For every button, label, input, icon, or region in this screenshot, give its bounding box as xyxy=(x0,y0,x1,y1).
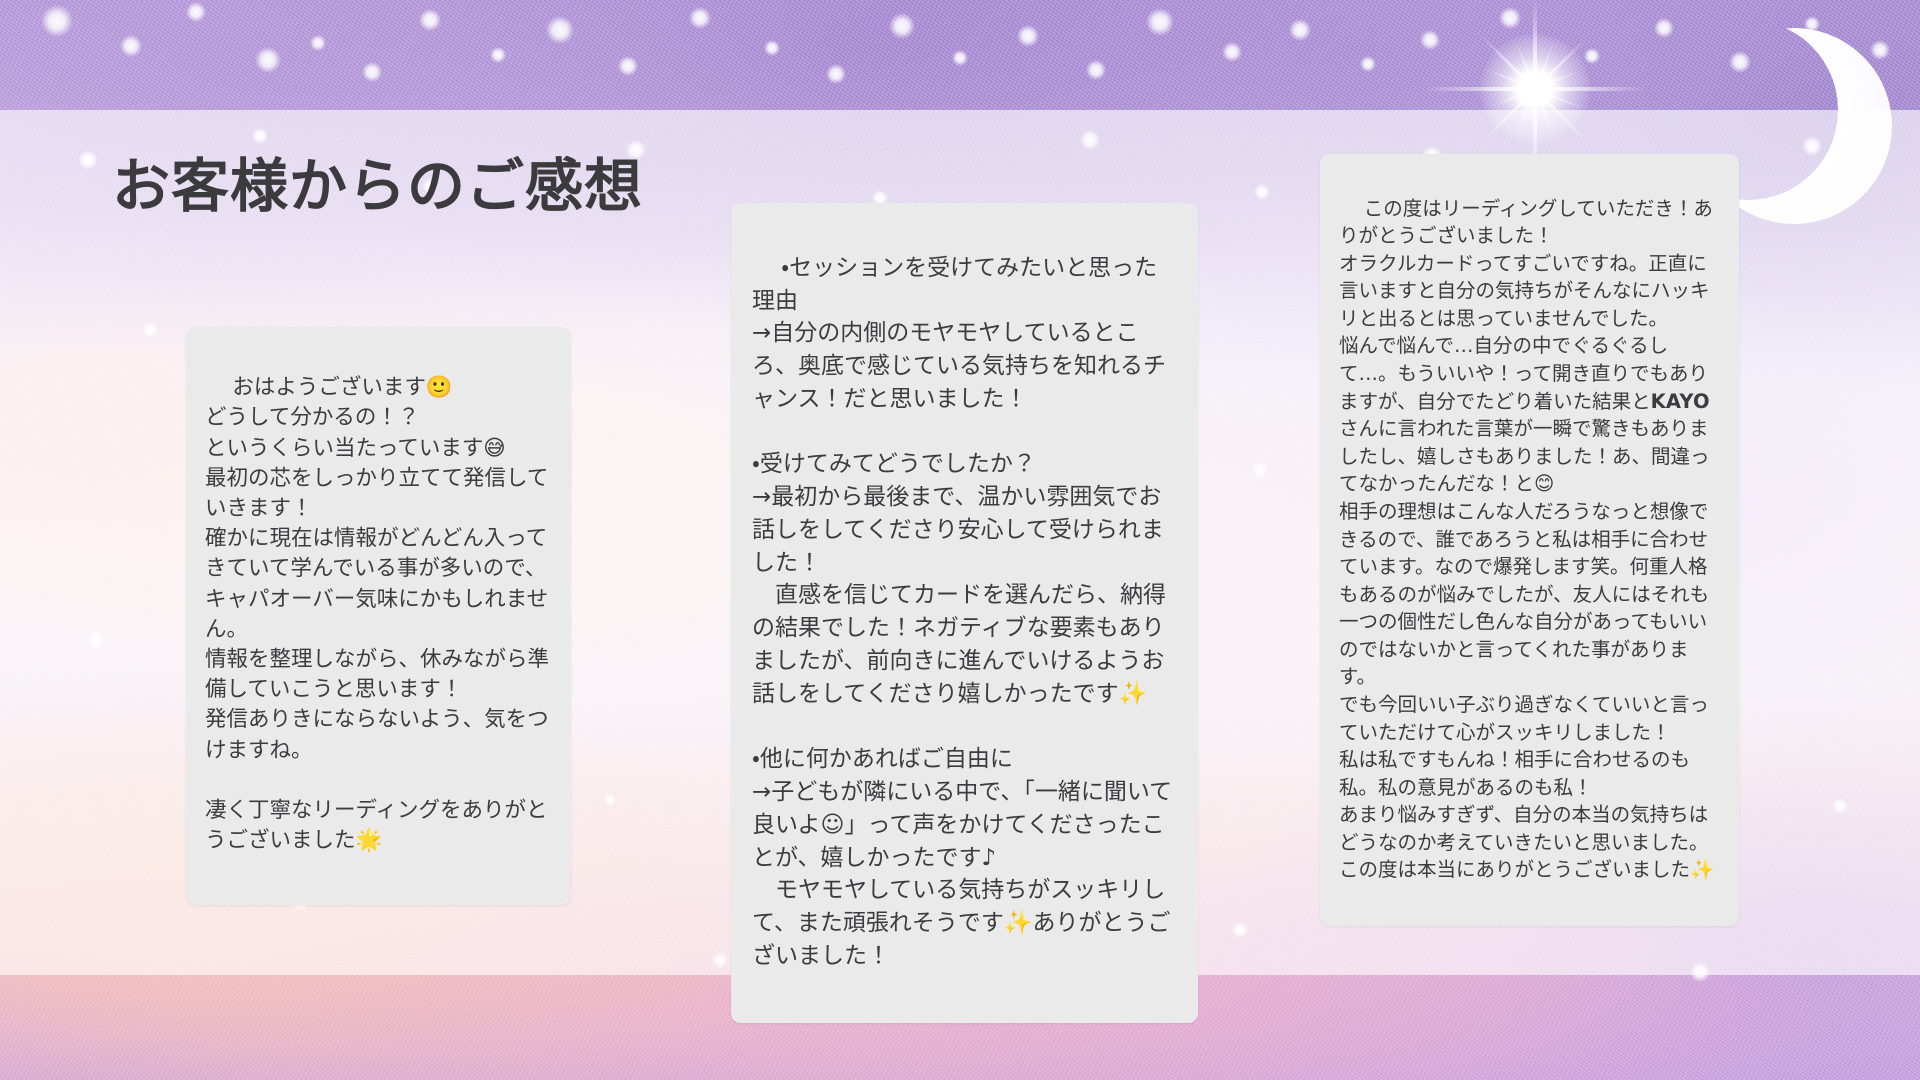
star-dot xyxy=(255,47,281,73)
testimonial-card-2: ・セッションを受けてみたいと思った理由 →自分の内側のモヤモヤしているところ、奥… xyxy=(731,203,1198,1023)
star-dot xyxy=(490,47,506,63)
testimonial-text-3-part1: この度はリーディングしていただき！ありがとうございました！ オラクルカードってす… xyxy=(1339,197,1713,413)
star-dot xyxy=(689,7,711,29)
testimonial-card-3: この度はリーディングしていただき！ありがとうございました！ オラクルカードってす… xyxy=(1320,154,1739,926)
star-dot xyxy=(1654,18,1673,37)
star-dot xyxy=(362,62,381,81)
star-dot xyxy=(419,9,441,31)
star-dot xyxy=(1870,40,1889,59)
star-dot xyxy=(618,56,637,75)
testimonial-card-1: おはようございます🙂 どうして分かるの！？ というくらい当たっています😅 最初の… xyxy=(186,327,571,905)
star-dot xyxy=(952,50,968,66)
star-dot xyxy=(1804,16,1820,32)
star-dot xyxy=(1499,7,1521,29)
star-dot xyxy=(1420,30,1439,49)
star-dot xyxy=(826,64,845,83)
star-dot xyxy=(1086,60,1105,79)
sparkle-ray xyxy=(1492,71,1578,107)
practitioner-name: KAYO xyxy=(1651,390,1710,413)
testimonial-text-3-part2: さんに言われた言葉が一瞬で驚きもありましたし、嬉しさもありました！あ、間違ってな… xyxy=(1339,417,1714,881)
page-title: お客様からのご感想 xyxy=(112,155,643,218)
star-dot xyxy=(186,2,205,21)
star-dot xyxy=(1146,8,1175,37)
star-dot xyxy=(1289,19,1311,41)
star-dot xyxy=(1017,25,1039,47)
testimonial-text-2: ・セッションを受けてみたいと思った理由 →自分の内側のモヤモヤしているところ、奥… xyxy=(752,255,1172,969)
star-dot xyxy=(1584,48,1600,64)
star-dot xyxy=(120,35,142,57)
star-dot xyxy=(1360,56,1376,72)
testimonial-text-1: おはようございます🙂 どうして分かるの！？ というくらい当たっています😅 最初の… xyxy=(205,375,549,853)
star-dot xyxy=(310,35,326,51)
star-dot xyxy=(1729,51,1751,73)
sparkle-ray xyxy=(1486,69,1583,110)
star-dot xyxy=(764,40,780,56)
slide-canvas: お客様からのご感想 おはようございます🙂 どうして分かるの！？ というくらい当た… xyxy=(0,0,1920,1080)
star-dot xyxy=(1222,42,1241,61)
sparkle-ray xyxy=(1423,87,1647,91)
star-dot xyxy=(41,5,73,37)
star-dot xyxy=(546,16,575,45)
star-dot xyxy=(889,13,915,39)
